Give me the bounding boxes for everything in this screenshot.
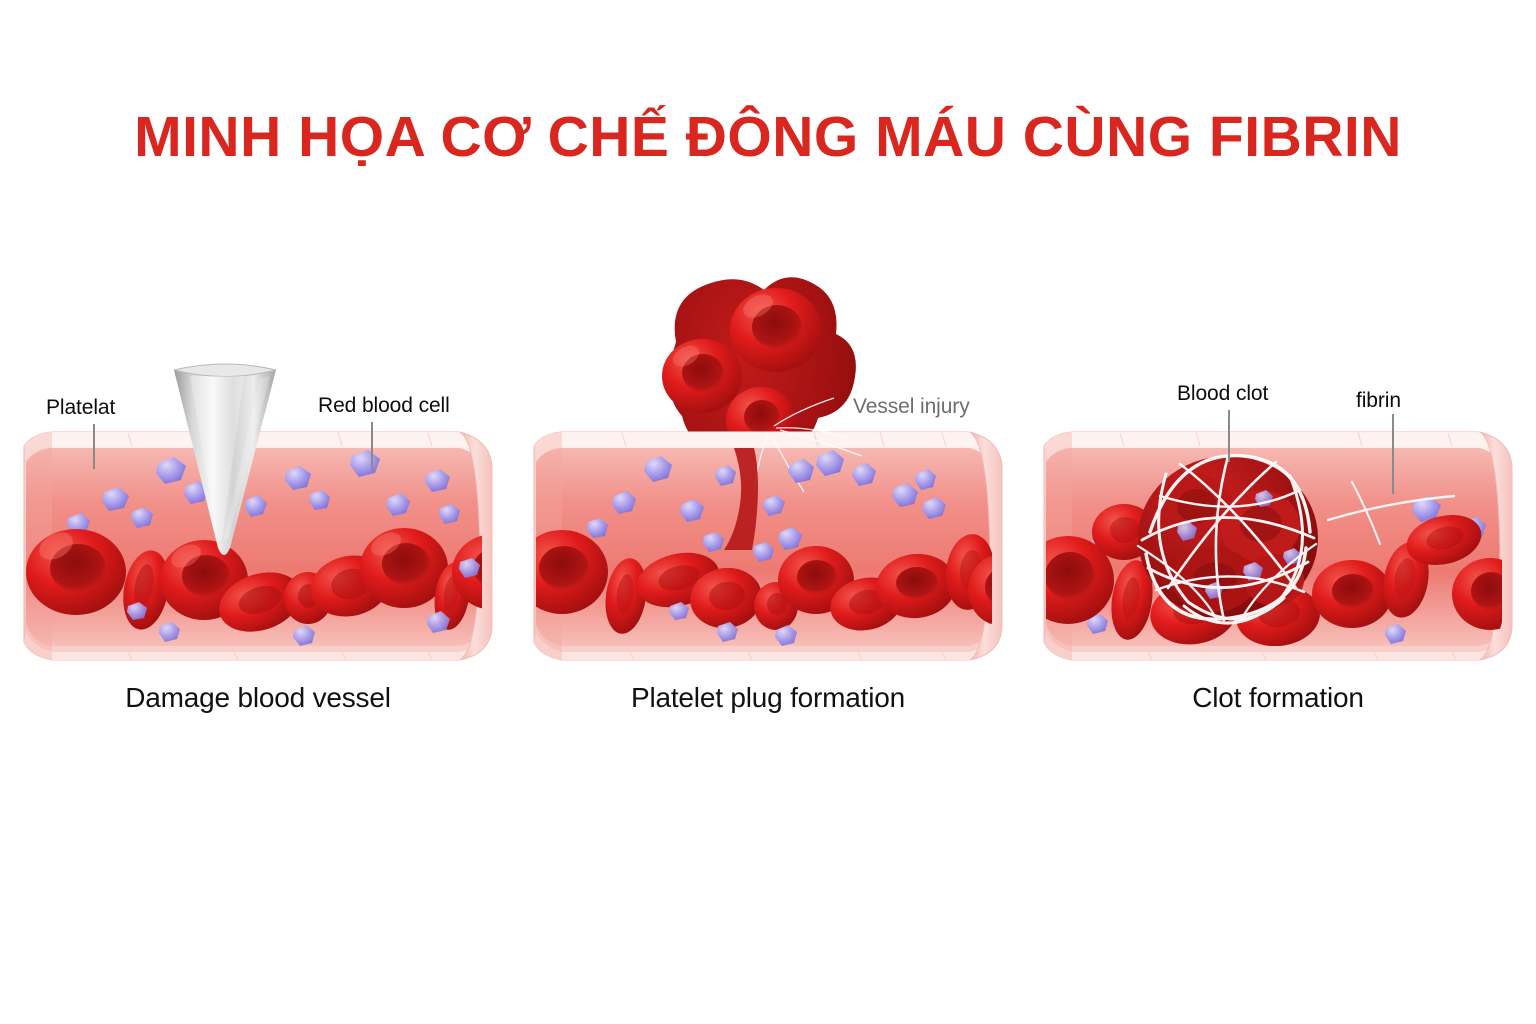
panel-1-artwork: [8, 250, 508, 680]
label-vessel-injury: Vessel injury: [853, 395, 970, 419]
fibrin-leader-line: [1392, 414, 1394, 494]
panel-3-artwork: [1028, 250, 1528, 680]
page-title: MINH HỌA CƠ CHẾ ĐÔNG MÁU CÙNG FIBRIN: [0, 108, 1536, 168]
panel-platelet-plug-formation: Platelet plug formation: [518, 250, 1018, 750]
panel-3-caption: Clot formation: [1028, 682, 1528, 714]
panel-clot-formation: Clot formation: [1028, 250, 1528, 750]
platelet-leader-line: [93, 424, 95, 469]
label-platelet: Platelat: [46, 396, 115, 420]
panel-damage-blood-vessel: Damage blood vessel: [8, 250, 508, 750]
illustration-canvas: MINH HỌA CƠ CHẾ ĐÔNG MÁU CÙNG FIBRIN: [0, 0, 1536, 1024]
label-blood-clot: Blood clot: [1177, 382, 1268, 406]
panel-2-artwork: [518, 250, 1018, 680]
label-red-blood-cell: Red blood cell: [318, 394, 450, 418]
blood-clot-leader-line: [1228, 410, 1230, 462]
panel-2-caption: Platelet plug formation: [518, 682, 1018, 714]
red-blood-cell-leader-line: [371, 422, 373, 470]
panel-1-caption: Damage blood vessel: [8, 682, 508, 714]
label-fibrin: fibrin: [1356, 389, 1401, 413]
